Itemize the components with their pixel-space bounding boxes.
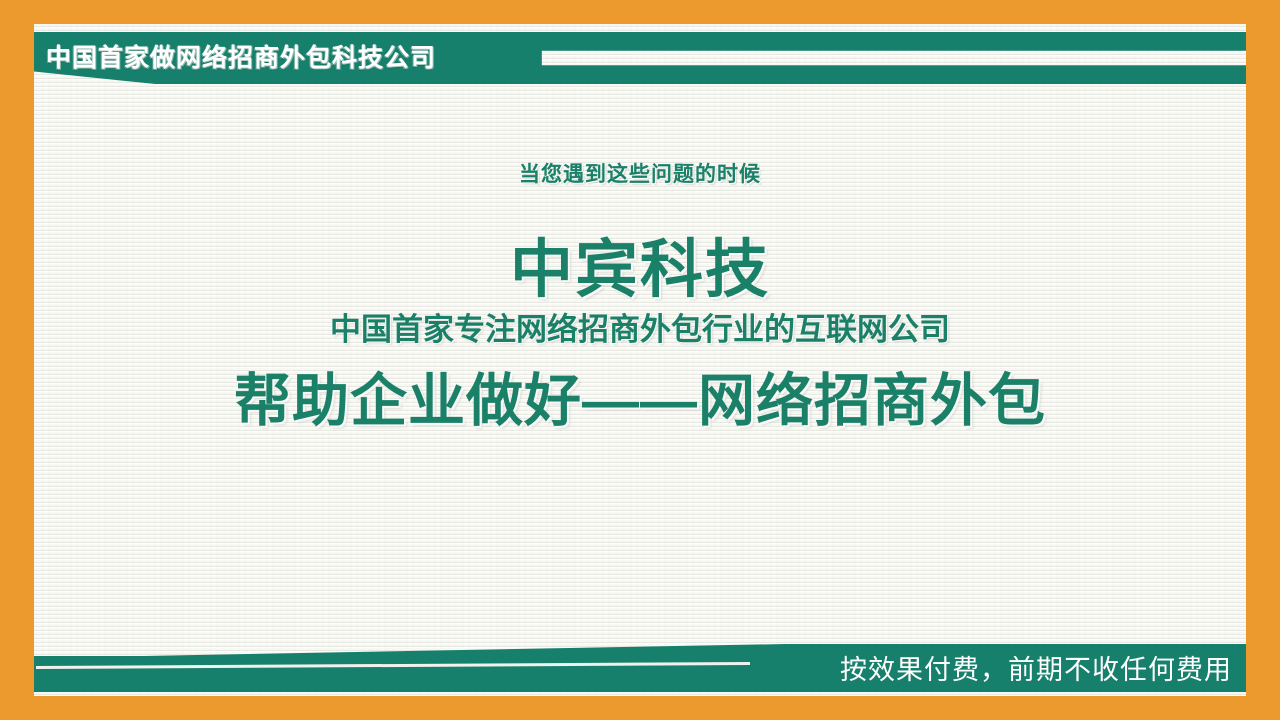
main-headline: 帮助企业做好——网络招商外包 [34,355,1246,437]
presentation-slide: 中国首家做网络招商外包科技公司 当您遇到这些问题的时候 中宾科技 中国首家专注网… [0,0,1280,720]
slide-content: 当您遇到这些问题的时候 中宾科技 中国首家专注网络招商外包行业的互联网公司 帮助… [34,90,1246,437]
brand-name: 中宾科技 [34,238,1246,302]
header-banner-label: 中国首家做网络招商外包科技公司 [46,36,436,80]
kicker-text: 当您遇到这些问题的时候 [34,158,1246,188]
footer-banner-label: 按效果付费，前期不收任何费用 [840,648,1232,692]
brand-tagline: 中国首家专注网络招商外包行业的互联网公司 [34,304,1246,349]
